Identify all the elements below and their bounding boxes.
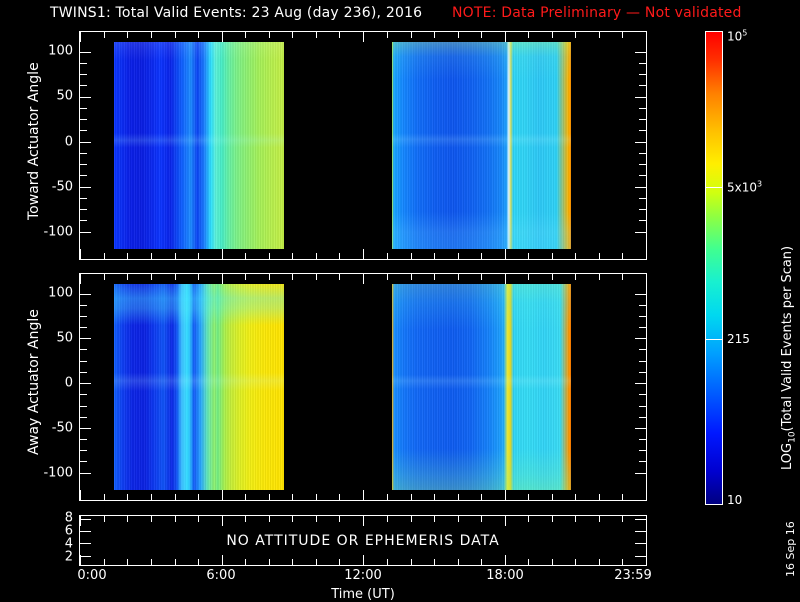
xtick-label: 18:00 [486, 569, 523, 582]
plot-canvas: TWINS1: Total Valid Events: 23 Aug (day … [0, 0, 800, 600]
xtick-top [175, 516, 176, 522]
ytick-right [639, 119, 646, 120]
xtick-top [363, 32, 364, 42]
xtick-minor [434, 253, 435, 259]
ytick-label: 100 [5, 45, 73, 58]
colorbar-tick [705, 187, 723, 188]
xtick-top [316, 274, 317, 280]
panel-toward-plot-area [80, 32, 646, 259]
xtick-minor [292, 559, 293, 565]
xtick-major [505, 490, 506, 500]
xtick-minor [269, 559, 270, 565]
xtick-top [458, 32, 459, 38]
xtick-top [292, 32, 293, 38]
ytick-major [80, 294, 91, 295]
xtick-top [434, 516, 435, 522]
xtick-top [458, 516, 459, 522]
xtick-top [387, 32, 388, 38]
xtick-minor [104, 253, 105, 259]
xtick-top [434, 274, 435, 280]
ytick-major [80, 142, 91, 143]
ytick-right [639, 85, 646, 86]
ytick-major [80, 383, 91, 384]
ytick-major [80, 232, 91, 233]
ytick-right [639, 130, 646, 131]
xtick-minor [528, 253, 529, 259]
xtick-major [363, 555, 364, 565]
xtick-minor [411, 559, 412, 565]
xtick-minor [575, 559, 576, 565]
ytick-right [635, 97, 646, 98]
xtick-top [175, 32, 176, 38]
xtick-top [387, 274, 388, 280]
xtick-minor [481, 559, 482, 565]
ytick-right [635, 543, 646, 544]
xtick-top [316, 32, 317, 38]
ytick-label: 100 [5, 287, 73, 300]
ytick-minor [80, 450, 87, 451]
ytick-label: -100 [5, 467, 73, 480]
panel-away-axis-title: Away Actuator Angle [26, 309, 42, 455]
xtick-top [339, 516, 340, 522]
xtick-minor [316, 559, 317, 565]
ytick-major [80, 52, 91, 53]
xtick-minor [245, 253, 246, 259]
xtick-minor [151, 253, 152, 259]
ytick-minor [80, 85, 87, 86]
heatmap-block-away-2 [392, 284, 571, 491]
ytick-right [639, 406, 646, 407]
xtick-minor [387, 253, 388, 259]
xtick-minor [481, 253, 482, 259]
xtick-minor [599, 494, 600, 500]
xtick-top [222, 274, 223, 284]
panel-away-plot-area [80, 274, 646, 500]
ytick-minor [80, 372, 87, 373]
xtick-minor [411, 253, 412, 259]
xtick-top [222, 516, 223, 526]
colorbar-label-min: 10 [727, 493, 742, 507]
ytick-minor [80, 439, 87, 440]
ytick-right [635, 232, 646, 233]
xtick-top [339, 274, 340, 280]
ytick-right [639, 394, 646, 395]
ytick-major [80, 428, 91, 429]
ytick-minor [80, 361, 87, 362]
ytick-minor [80, 327, 87, 328]
xtick-top [505, 516, 506, 526]
xtick-top [127, 516, 128, 522]
xtick-minor [175, 494, 176, 500]
xtick-label: 12:00 [344, 569, 381, 582]
ytick-label: 2 [45, 551, 73, 564]
colorbar-label-mid-low: 215 [727, 332, 750, 346]
panel-attitude-ephemeris: NO ATTITUDE OR EPHEMERIS DATA [79, 515, 647, 566]
ytick-right [635, 52, 646, 53]
xtick-top [481, 516, 482, 522]
xtick-minor [339, 253, 340, 259]
xtick-minor [339, 494, 340, 500]
ytick-major [80, 473, 91, 474]
ytick-major [80, 543, 91, 544]
ytick-right [639, 220, 646, 221]
render-datestamp: 16 Sep 16 [784, 521, 797, 577]
ytick-minor [80, 394, 87, 395]
xtick-top [198, 274, 199, 280]
xtick-top [175, 274, 176, 280]
ytick-right [639, 349, 646, 350]
xtick-top [127, 274, 128, 280]
xtick-top [269, 32, 270, 38]
xtick-top [599, 274, 600, 280]
ytick-right [635, 142, 646, 143]
ytick-minor [80, 74, 87, 75]
xtick-top [599, 32, 600, 38]
xtick-minor [198, 494, 199, 500]
ytick-minor [80, 130, 87, 131]
xtick-minor [127, 559, 128, 565]
xtick-top [292, 274, 293, 280]
xtick-minor [434, 559, 435, 565]
ytick-right [635, 473, 646, 474]
colorbar-label-mid-high: 5x103 [727, 180, 762, 195]
panel-toward-actuator-angle [79, 31, 647, 260]
ytick-minor [80, 406, 87, 407]
xtick-minor [434, 494, 435, 500]
xtick-major [80, 490, 81, 500]
xtick-minor [599, 253, 600, 259]
xtick-minor [269, 494, 270, 500]
xtick-minor [387, 559, 388, 565]
ytick-right [639, 108, 646, 109]
xtick-minor [575, 253, 576, 259]
ytick-right [639, 361, 646, 362]
ytick-right [635, 531, 646, 532]
xtick-minor [151, 494, 152, 500]
xtick-top [269, 516, 270, 522]
heatmap-block-toward-2 [392, 42, 571, 249]
xtick-label: 6:00 [206, 569, 235, 582]
xtick-major [363, 249, 364, 259]
xtick-major [222, 555, 223, 565]
ytick-right [639, 164, 646, 165]
xtick-top [622, 32, 623, 38]
xtick-top [104, 32, 105, 38]
ytick-right [639, 327, 646, 328]
xtick-top [575, 32, 576, 38]
ytick-minor [80, 461, 87, 462]
xtick-minor [292, 253, 293, 259]
colorbar-tick [705, 339, 723, 340]
xtick-minor [292, 494, 293, 500]
ytick-major [80, 556, 91, 557]
xtick-minor [411, 494, 412, 500]
xtick-top [245, 274, 246, 280]
xtick-top [151, 32, 152, 38]
ytick-minor [80, 175, 87, 176]
xtick-minor [622, 559, 623, 565]
xtick-minor [151, 559, 152, 565]
ytick-right [639, 461, 646, 462]
xtick-minor [528, 494, 529, 500]
xtick-top [552, 516, 553, 522]
xtick-top [292, 516, 293, 522]
xtick-minor [316, 494, 317, 500]
xtick-minor [458, 253, 459, 259]
xtick-top [411, 516, 412, 522]
xtick-major [80, 555, 81, 565]
xtick-major [80, 249, 81, 259]
xtick-top [552, 274, 553, 280]
xtick-minor [552, 494, 553, 500]
xtick-top [245, 32, 246, 38]
xtick-top [411, 274, 412, 280]
xtick-label: 0:00 [77, 569, 106, 582]
ytick-major [80, 338, 91, 339]
xtick-major [222, 490, 223, 500]
xtick-top [481, 274, 482, 280]
ytick-right [635, 294, 646, 295]
ytick-right [639, 316, 646, 317]
panel-toward-axis-title: Toward Actuator Angle [26, 62, 42, 220]
xtick-top [80, 516, 81, 526]
xtick-minor [245, 494, 246, 500]
xtick-top [80, 274, 81, 284]
ytick-right [635, 556, 646, 557]
ytick-label: -100 [5, 226, 73, 239]
xtick-top [104, 516, 105, 522]
xtick-top [622, 274, 623, 280]
xtick-top [339, 32, 340, 38]
xtick-minor [552, 559, 553, 565]
colorbar [705, 31, 723, 505]
ytick-right [635, 383, 646, 384]
xtick-top [151, 274, 152, 280]
xtick-top [528, 516, 529, 522]
ytick-right [635, 519, 646, 520]
xtick-top [363, 516, 364, 526]
ytick-minor [80, 209, 87, 210]
xtick-minor [127, 253, 128, 259]
xtick-minor [622, 253, 623, 259]
heatmap-block-away-1 [114, 284, 284, 491]
xtick-top [552, 32, 553, 38]
xtick-minor [269, 253, 270, 259]
ytick-right [639, 372, 646, 373]
xtick-minor [198, 253, 199, 259]
xtick-top [481, 32, 482, 38]
xtick-top [198, 516, 199, 522]
ytick-right [639, 450, 646, 451]
xtick-top [316, 516, 317, 522]
ytick-minor [80, 63, 87, 64]
ytick-minor [80, 198, 87, 199]
ytick-right [639, 175, 646, 176]
xtick-minor [127, 494, 128, 500]
page-title: TWINS1: Total Valid Events: 23 Aug (day … [50, 6, 422, 20]
ytick-right [635, 187, 646, 188]
xtick-top [528, 32, 529, 38]
ytick-right [635, 338, 646, 339]
ytick-minor [80, 349, 87, 350]
ytick-major [80, 187, 91, 188]
xtick-top [222, 32, 223, 42]
xtick-top [622, 516, 623, 522]
xtick-minor [316, 253, 317, 259]
xtick-top [387, 516, 388, 522]
xtick-minor [245, 559, 246, 565]
heatmap-block-toward-1 [114, 42, 284, 249]
ytick-right [639, 153, 646, 154]
xtick-top [599, 516, 600, 522]
xtick-minor [175, 559, 176, 565]
xtick-label: 23:59 [614, 569, 651, 582]
xtick-top [411, 32, 412, 38]
ytick-right [639, 198, 646, 199]
colorbar-label-max: 105 [727, 29, 747, 44]
xtick-minor [528, 559, 529, 565]
xtick-top [198, 32, 199, 38]
xtick-minor [387, 494, 388, 500]
xtick-top [505, 274, 506, 284]
xtick-top [104, 274, 105, 280]
ytick-minor [80, 108, 87, 109]
xtick-minor [575, 494, 576, 500]
ytick-minor [80, 305, 87, 306]
ytick-minor [80, 153, 87, 154]
xtick-minor [599, 559, 600, 565]
xtick-top [245, 516, 246, 522]
xtick-minor [175, 253, 176, 259]
xtick-major [363, 490, 364, 500]
ytick-right [639, 305, 646, 306]
xtick-minor [458, 494, 459, 500]
ytick-minor [80, 316, 87, 317]
colorbar-axis-title: LOG10(Total Valid Events per Scan) [780, 246, 798, 470]
xtick-minor [198, 559, 199, 565]
xtick-major [505, 249, 506, 259]
no-data-message: NO ATTITUDE OR EPHEMERIS DATA [226, 533, 499, 549]
xtick-minor [552, 253, 553, 259]
xtick-top [575, 274, 576, 280]
xtick-top [80, 32, 81, 42]
ytick-major [80, 97, 91, 98]
preliminary-data-note: NOTE: Data Preliminary — Not validated [452, 6, 742, 20]
xtick-minor [458, 559, 459, 565]
xtick-top [363, 274, 364, 284]
ytick-right [635, 428, 646, 429]
xtick-top [269, 274, 270, 280]
xtick-top [434, 32, 435, 38]
xtick-top [151, 516, 152, 522]
xtick-top [505, 32, 506, 42]
ytick-minor [80, 220, 87, 221]
xtick-major [505, 555, 506, 565]
ytick-major [80, 519, 91, 520]
ytick-right [639, 74, 646, 75]
xtick-major [222, 249, 223, 259]
xtick-top [458, 274, 459, 280]
xtick-minor [104, 494, 105, 500]
xtick-minor [104, 559, 105, 565]
xtick-minor [339, 559, 340, 565]
ytick-minor [80, 417, 87, 418]
ytick-right [639, 209, 646, 210]
panel-away-actuator-angle [79, 273, 647, 501]
ytick-right [639, 417, 646, 418]
xtick-top [528, 274, 529, 280]
xtick-minor [481, 494, 482, 500]
xtick-top [127, 32, 128, 38]
xtick-top [575, 516, 576, 522]
ytick-minor [80, 119, 87, 120]
ytick-right [639, 439, 646, 440]
xtick-minor [622, 494, 623, 500]
ytick-right [639, 63, 646, 64]
ytick-major [80, 531, 91, 532]
ytick-minor [80, 164, 87, 165]
